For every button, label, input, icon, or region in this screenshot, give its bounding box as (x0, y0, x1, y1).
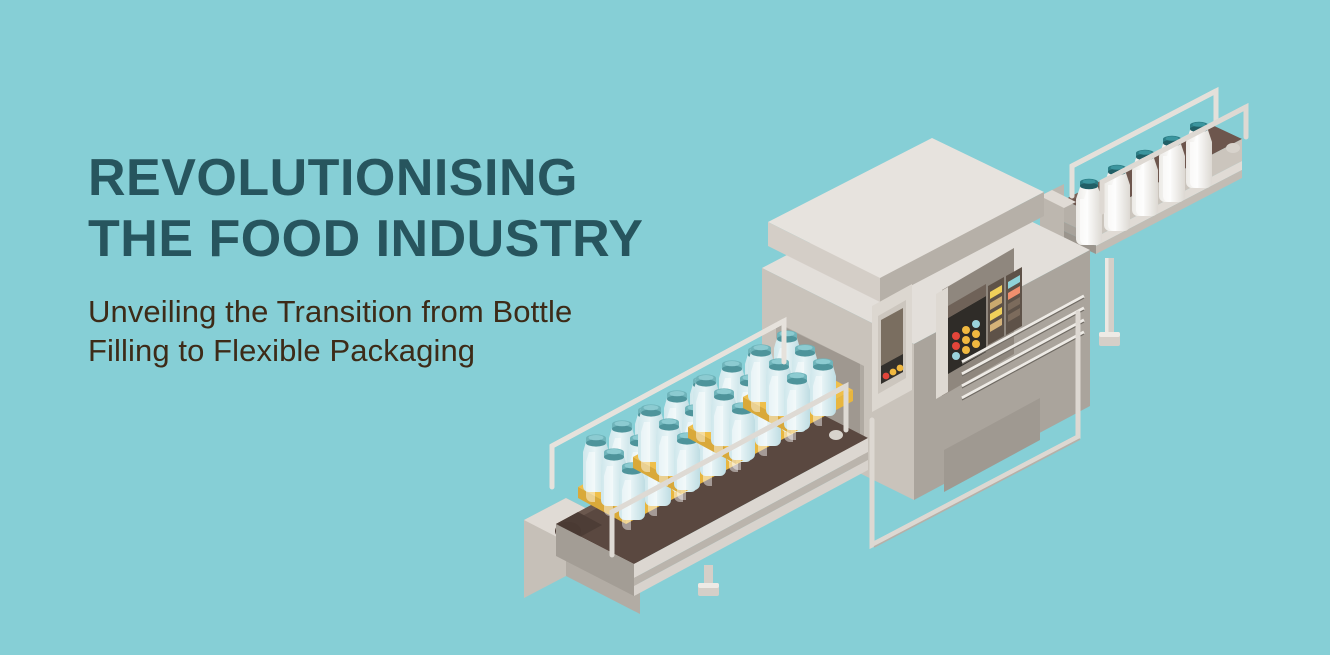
page-title: REVOLUTIONISING THE FOOD INDUSTRY (88, 148, 708, 270)
page-subtitle: Unveiling the Transition from Bottle Fil… (88, 270, 708, 371)
banner-root: REVOLUTIONISING THE FOOD INDUSTRY Unveil… (0, 0, 1330, 655)
headline-block: REVOLUTIONISING THE FOOD INDUSTRY Unveil… (88, 148, 708, 371)
